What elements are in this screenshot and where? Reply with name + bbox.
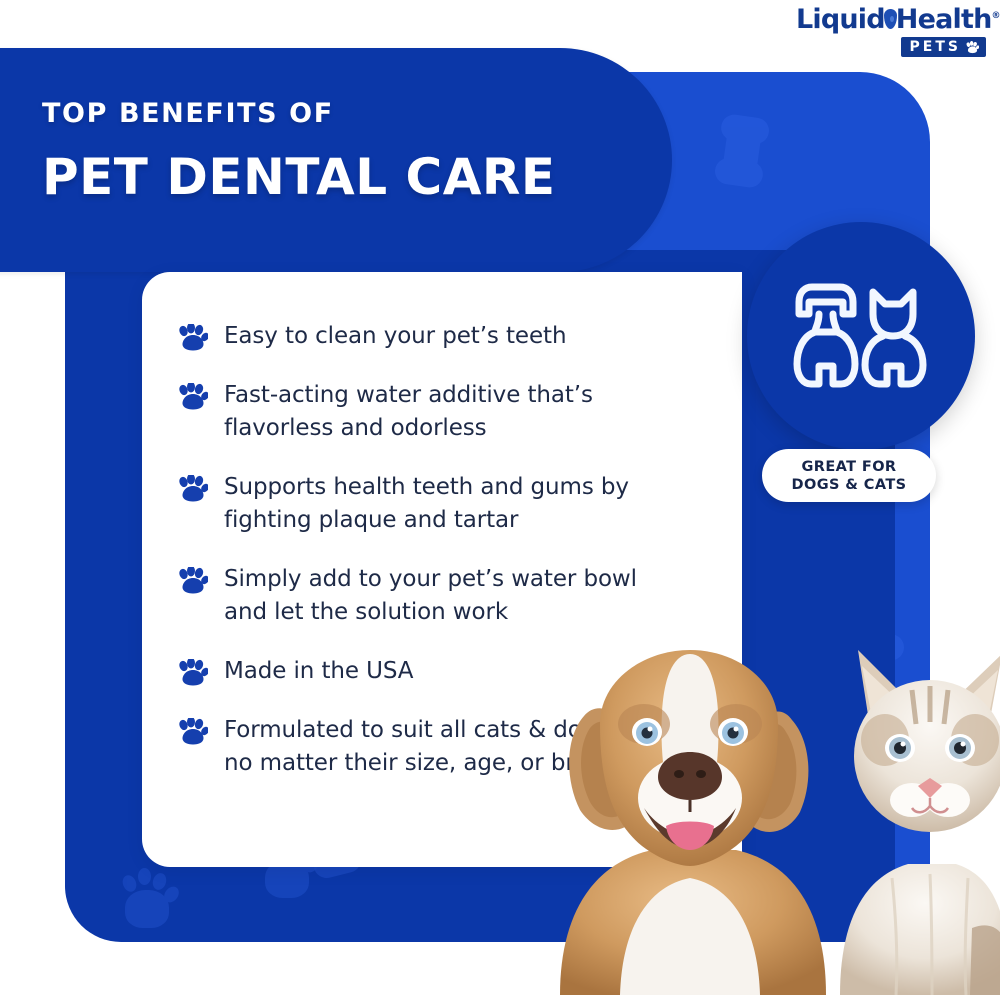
benefit-text: Supports health teeth and gums by fighti… [224, 471, 648, 537]
brand-name-part2: Health [896, 4, 992, 35]
header-kicker: TOP BENEFITS OF [42, 98, 556, 130]
list-item: Supports health teeth and gums by fighti… [178, 471, 648, 537]
paw-pattern-shape [125, 890, 169, 928]
dog-cat-icon-badge [747, 222, 975, 450]
paw-print-icon [178, 659, 208, 686]
benefit-text: Easy to clean your pet’s teeth [224, 320, 566, 353]
status-badge: GREAT FOR DOGS & CATS [762, 449, 936, 502]
page-title: PET DENTAL CARE [42, 148, 556, 206]
infographic-canvas: TOP BENEFITS OF PET DENTAL CARE Easy to … [0, 0, 1000, 995]
list-item: Easy to clean your pet’s teeth [178, 320, 648, 353]
brand-name-part1: Liquid [796, 4, 885, 35]
paw-print-icon [178, 475, 208, 502]
badge-line-1: GREAT FOR [801, 458, 896, 476]
list-item: Fast-acting water additive that’s flavor… [178, 379, 648, 445]
badge-line-2: DOGS & CATS [792, 476, 907, 494]
brand-pets-badge: PETS [901, 37, 986, 57]
benefit-text: Simply add to your pet’s water bowl and … [224, 563, 648, 629]
benefit-text: Made in the USA [224, 655, 413, 688]
pet-photo [540, 628, 1000, 995]
paw-print-icon [178, 718, 208, 745]
header-text-block: TOP BENEFITS OF PET DENTAL CARE [42, 98, 556, 206]
paw-print-icon [178, 324, 208, 351]
bone-pattern-shape [721, 118, 763, 184]
paw-print-icon [178, 567, 208, 594]
header-banner: TOP BENEFITS OF PET DENTAL CARE [0, 48, 672, 272]
brand-logo[interactable]: LiquidHealth® PETS [796, 2, 986, 54]
paw-icon [966, 41, 979, 54]
trademark-symbol: ® [992, 11, 1000, 21]
paw-print-icon [178, 383, 208, 410]
benefit-text: Fast-acting water additive that’s flavor… [224, 379, 648, 445]
brand-pets-label: PETS [910, 39, 961, 55]
list-item: Simply add to your pet’s water bowl and … [178, 563, 648, 629]
brand-name: LiquidHealth® [796, 2, 1000, 34]
